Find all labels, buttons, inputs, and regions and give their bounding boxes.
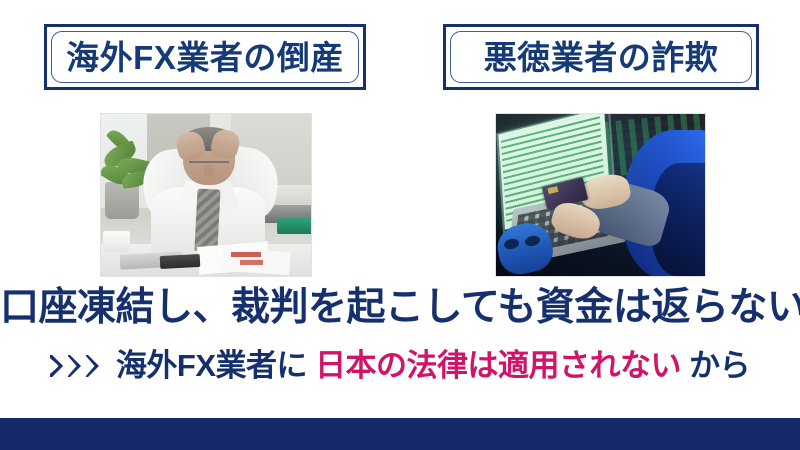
card-title-inner-frame-right: 悪徳業者の詐欺 [450, 31, 752, 83]
stressed-businessman-photo [100, 113, 312, 277]
subline-part-navy-1: 海外FX業者に [116, 350, 307, 381]
subline-row: 海外FX業者に 日本の法律は適用されない から [0, 350, 800, 381]
triple-chevron-right-icon [50, 353, 104, 379]
slide-canvas: 海外FX業者の倒産 悪徳業者の詐欺 [0, 0, 800, 450]
coffee-cup [103, 231, 130, 252]
subline-part-navy-2: から [689, 350, 750, 381]
card-title-box-right: 悪徳業者の詐欺 [443, 24, 759, 90]
card-title-text-left: 海外FX業者の倒産 [66, 41, 344, 74]
man-nose [204, 164, 215, 177]
card-title-text-right: 悪徳業者の詐欺 [484, 41, 719, 74]
screen-glow [496, 114, 705, 276]
card-title-box-left: 海外FX業者の倒産 [44, 24, 366, 90]
hacker-laptop-photo [495, 113, 706, 277]
headline-text: 口座凍結し、裁判を起こしても資金は返らない [0, 288, 800, 328]
green-folder [277, 218, 312, 234]
document-red-mark [231, 252, 260, 257]
document-red-mark [240, 260, 263, 265]
subline-part-crimson: 日本の法律は適用されない [315, 350, 681, 381]
calculator [159, 254, 200, 269]
bottom-accent-bar [0, 418, 800, 450]
plant-pot [105, 182, 139, 219]
card-title-inner-frame-left: 海外FX業者の倒産 [51, 31, 359, 83]
striped-necktie [194, 188, 220, 251]
